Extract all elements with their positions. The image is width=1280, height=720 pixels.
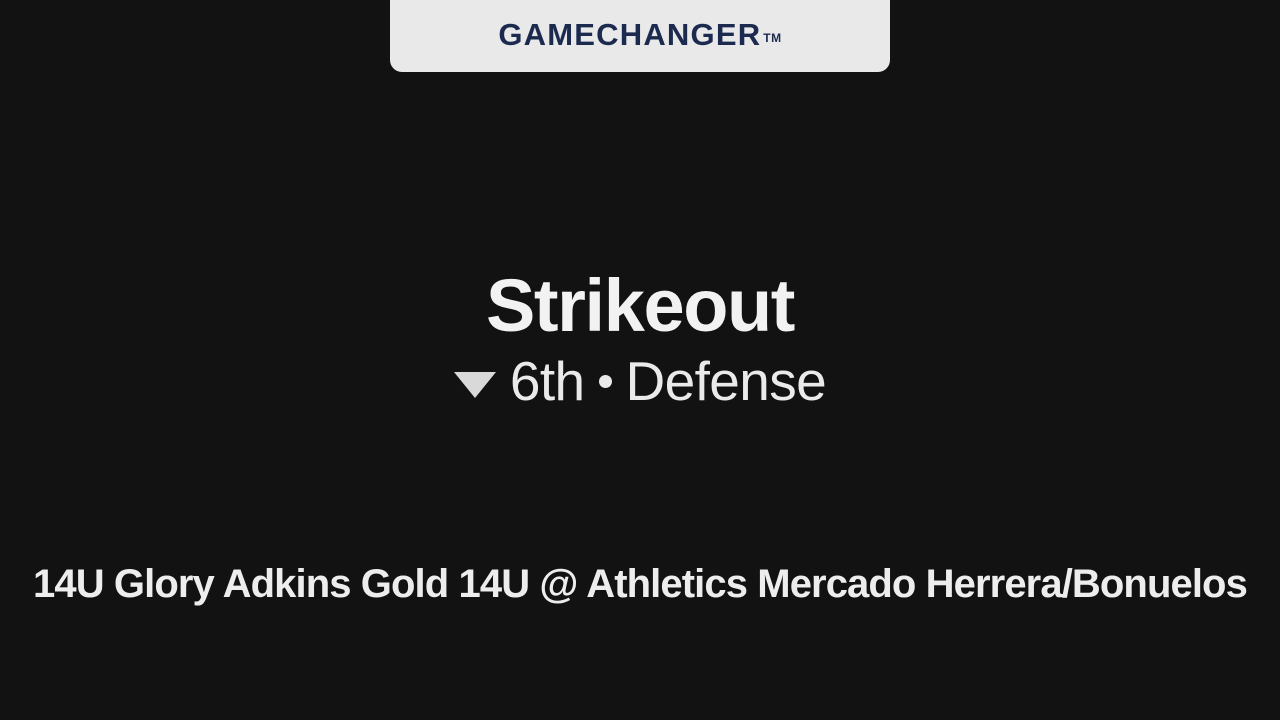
- triangle-down-icon: [454, 372, 496, 398]
- matchup-title: 14U Glory Adkins Gold 14U @ Athletics Me…: [0, 562, 1280, 606]
- side-label: Defense: [626, 353, 827, 411]
- game-play-overlay-screen: GAMECHANGER TM Strikeout 6th Defense 14U…: [0, 0, 1280, 720]
- play-description-block: Strikeout 6th Defense: [0, 268, 1280, 411]
- inning-label: 6th: [510, 353, 585, 411]
- play-title: Strikeout: [0, 268, 1280, 343]
- gamechanger-logo-chip: GAMECHANGER TM: [390, 0, 890, 72]
- play-context-line: 6th Defense: [0, 353, 1280, 411]
- bullet-separator-icon: [599, 375, 612, 388]
- gamechanger-wordmark: GAMECHANGER: [498, 19, 761, 50]
- trademark-icon: TM: [763, 32, 781, 44]
